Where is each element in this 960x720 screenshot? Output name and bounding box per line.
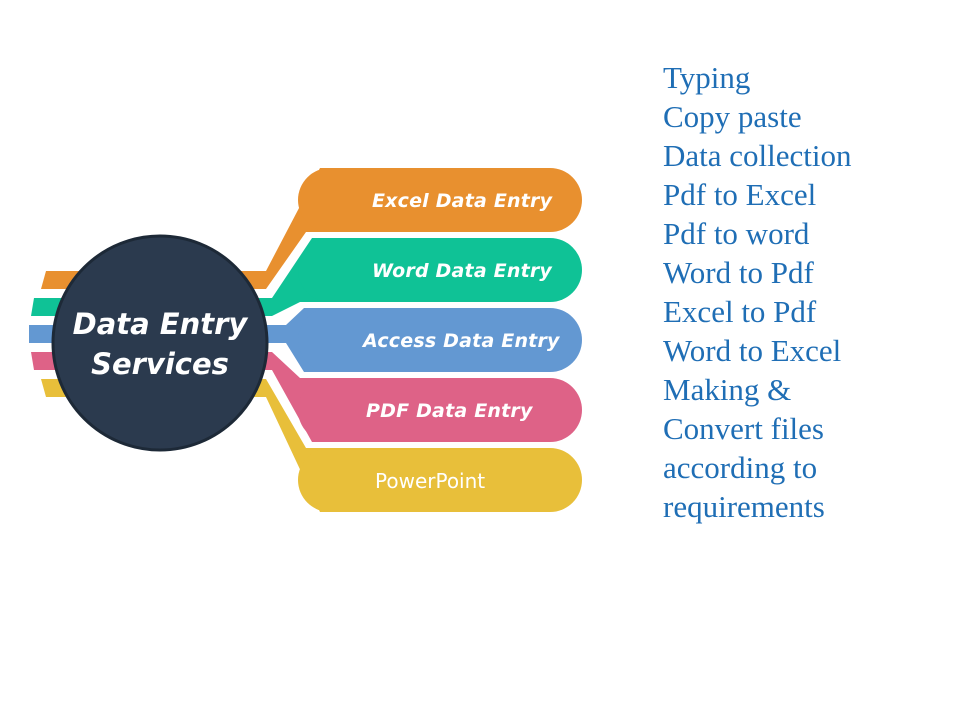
slide-canvas: Excel Data Entry Word Data Entry Access … bbox=[0, 0, 960, 720]
services-line: Data collection bbox=[663, 136, 953, 175]
branch-label-excel: Excel Data Entry bbox=[372, 190, 554, 212]
branch-label-access: Access Data Entry bbox=[361, 330, 561, 352]
services-line: Word to Excel bbox=[663, 331, 953, 370]
services-text-block: Typing Copy paste Data collection Pdf to… bbox=[663, 58, 953, 526]
services-line: Copy paste bbox=[663, 97, 953, 136]
branch-labels-group: Excel Data Entry Word Data Entry Access … bbox=[361, 190, 561, 493]
data-entry-services-infographic: Excel Data Entry Word Data Entry Access … bbox=[0, 0, 620, 720]
hub-label-line1: Data Entry bbox=[73, 307, 249, 341]
services-line: Excel to Pdf bbox=[663, 292, 953, 331]
services-line: Pdf to Excel bbox=[663, 175, 953, 214]
services-line: Convert files bbox=[663, 409, 953, 448]
services-line: Pdf to word bbox=[663, 214, 953, 253]
services-line: requirements bbox=[663, 487, 953, 526]
branch-label-word: Word Data Entry bbox=[372, 260, 553, 282]
hub-label-line2: Services bbox=[91, 347, 229, 381]
services-line: Typing bbox=[663, 58, 953, 97]
hub-circle-group[interactable]: Data Entry Services bbox=[53, 236, 267, 450]
hub-circle[interactable] bbox=[53, 236, 267, 450]
branch-label-pdf: PDF Data Entry bbox=[366, 400, 534, 422]
services-line: Making & bbox=[663, 370, 953, 409]
branch-label-powerpoint: PowerPoint bbox=[375, 469, 485, 493]
services-line: according to bbox=[663, 448, 953, 487]
services-line: Word to Pdf bbox=[663, 253, 953, 292]
